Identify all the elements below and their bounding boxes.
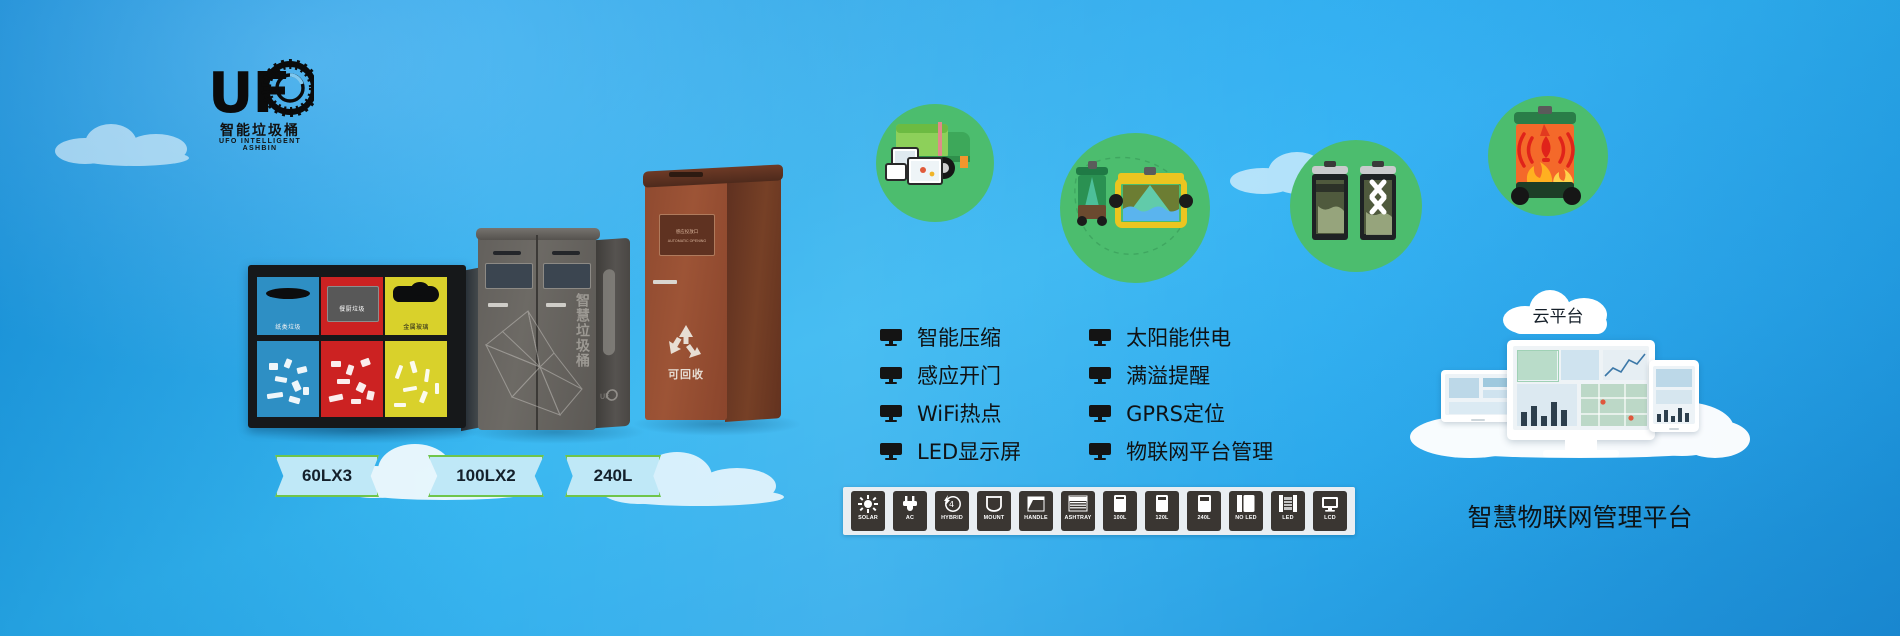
wall-mount-icon [982,493,1006,514]
litter-graphic [263,355,313,409]
platform-dashboard-screen [1513,346,1649,430]
option-label: 100L [1113,515,1126,522]
recycle-symbol-icon [665,322,707,364]
option-label: MOUNT [984,515,1005,522]
feature-item: WiFi热点 [880,398,1021,428]
option-label: 240L [1197,515,1210,522]
yellow-bin-large [1109,167,1193,225]
monitor-base [1543,450,1619,457]
option-120l[interactable]: 120L [1145,491,1179,531]
option-100l[interactable]: 100L [1103,491,1137,531]
handle-icon [1024,493,1048,514]
feature-list: 智能压缩 感应开门 WiFi热点 LED显示屏 太阳能供电 满溢提醒 [880,322,1273,466]
brand-cn-tagline: 智能垃圾桶 [206,120,314,140]
ribbon-label: 60LX3 [302,466,352,486]
feature-circle-compaction [1290,140,1422,272]
triple-bin-cell-top-red: 餐厨垃圾 [321,277,383,335]
monitor-bullet-icon [1089,405,1111,422]
triple-bin-cell-top-blue: 纸类垃圾 [257,277,319,335]
option-no-led[interactable]: NO LED [1229,491,1263,531]
option-lcd[interactable]: LCD [1313,491,1347,531]
option-label: HANDLE [1024,515,1048,522]
monitor-bullet-icon [1089,367,1111,384]
cloud-platform-badge-label: 云平台 [1503,302,1613,327]
platform-monitor [1507,340,1655,440]
feature-circle-fleet-routing [876,104,994,222]
litter-graphic [327,355,377,409]
brand-mark-small-icon: UF [600,389,618,406]
option-ashtray[interactable]: ASHTRAY [1061,491,1095,531]
bin-240l-icon [1192,493,1216,514]
hybrid-power-icon: 4 [940,493,964,514]
feature-label: 物联网平台管理 [1126,436,1273,466]
triple-bin-cell-top-yellow: 金属玻璃 [385,277,447,335]
lcd-screen-icon [1318,493,1342,514]
led-panel-icon [1276,493,1300,514]
fire-alarm-icon [1488,96,1608,216]
platform-tablet-left [1441,370,1515,422]
brown-screen-line1: 感应投放口 [660,228,714,235]
ribbon-label: 240L [594,466,633,486]
double-bin-vertical-text: 智慧垃圾桶 [574,293,590,368]
feature-item: GPRS定位 [1089,398,1273,428]
plug-icon [898,493,922,514]
litter-graphic [391,355,441,409]
double-bin-face: 智慧垃圾桶 [478,235,596,430]
feature-item: 智能压缩 [880,322,1021,352]
option-label: NO LED [1235,515,1257,522]
feature-label: 智能压缩 [917,322,1001,352]
capacity-ribbon-100lx2: 100LX2 [428,455,544,497]
option-label: LED [1282,515,1293,522]
sensor-dots-right-icon [552,251,580,255]
svg-text:4: 4 [949,500,954,509]
drop-slot-cloud-icon-b [411,282,429,296]
brand-logo: UF 智能垃圾桶 UFO INTELLIGENT ASHBIN [206,58,314,150]
feature-item: 物联网平台管理 [1089,436,1273,466]
triple-bin-cell-bottom-red [321,341,383,417]
option-label: AC [906,515,914,522]
feature-column-left: 智能压缩 感应开门 WiFi热点 LED显示屏 [880,322,1021,466]
option-handle[interactable]: HANDLE [1019,491,1053,531]
platform-phone-right [1649,360,1699,432]
sensor-dots-left-icon [493,251,521,255]
capacity-ribbon-60lx3: 60LX3 [275,455,379,497]
drop-window-left [485,263,533,289]
green-bin-small [1076,161,1108,226]
bar-chart-thumb [1519,398,1575,426]
capacity-ribbon-240l: 240L [565,455,661,497]
double-bin-side: UF [594,238,630,429]
brown-bin-handle-icon [653,280,677,284]
feature-label: 太阳能供电 [1126,322,1231,352]
feature-label: 感应开门 [917,360,1001,390]
feature-label: WiFi热点 [917,398,1002,428]
option-led[interactable]: LED [1271,491,1305,531]
monitor-bullet-icon [880,329,902,346]
option-solar[interactable]: SOLAR [851,491,885,531]
svg-text:UF: UF [600,392,609,401]
feature-circle-fill-level [1060,133,1210,283]
platform-caption: 智慧物联网管理平台 [1430,498,1730,534]
option-label: ASHTRAY [1065,515,1092,522]
cloud-platform-scene: 云平台 [1435,300,1725,490]
option-hybrid[interactable]: 4 HYBRID [935,491,969,531]
feature-item: 满溢提醒 [1089,360,1273,390]
monitor-bullet-icon [880,405,902,422]
feature-label: LED显示屏 [917,436,1021,466]
monitor-bullet-icon [1089,443,1111,460]
triple-bin-label: 纸类垃圾 [257,322,319,331]
monitor-bullet-icon [880,443,902,460]
brown-bin-screen: 感应投放口 AUTOMATIC OPENING [659,214,715,256]
monitor-bullet-icon [880,367,902,384]
compaction-compare-icon [1290,140,1422,272]
line-chart-thumb [1603,350,1647,380]
drop-slot-oval-icon [266,288,310,299]
option-label: 120L [1155,515,1168,522]
double-smart-bin: UF [478,235,628,430]
feature-label: 满溢提醒 [1126,360,1210,390]
banner-canvas: UF 智能垃圾桶 UFO INTELLIGENT ASHBIN 纸类垃圾 餐厨垃… [0,0,1900,636]
brown-screen-line2: AUTOMATIC OPENING [660,238,714,245]
option-label: HYBRID [941,515,963,522]
phone-bar-thumb [1656,406,1692,422]
feature-item: 太阳能供电 [1089,322,1273,352]
triple-bin-label: 餐厨垃圾 [321,304,383,313]
brand-en-tagline: UFO INTELLIGENT ASHBIN [206,138,314,152]
triple-bin-cell-bottom-yellow [385,341,447,417]
ashtray-icon [1066,493,1090,514]
bin-100l-icon [1108,493,1132,514]
bin-120l-icon [1150,493,1174,514]
feature-circle-fire-alarm [1488,96,1608,216]
monitor-bullet-icon [1089,329,1111,346]
option-ac[interactable]: AC [893,491,927,531]
triple-recycling-bin: 纸类垃圾 餐厨垃圾 金属玻璃 [248,265,466,428]
monitor-stand [1565,440,1597,450]
no-led-panel-icon [1234,493,1258,514]
triple-bin-cell-bottom-blue [257,341,319,417]
cloud-platform-badge: 云平台 [1503,288,1613,336]
brown-recycle-bin: 感应投放口 AUTOMATIC OPENING 可回收 [645,168,781,420]
feature-column-right: 太阳能供电 满溢提醒 GPRS定位 物联网平台管理 [1089,322,1273,466]
sun-icon [856,493,880,514]
brown-bin-face: 感应投放口 AUTOMATIC OPENING 可回收 [645,176,727,420]
option-icon-strip: SOLAR AC 4 HYBRID MOU [843,487,1355,535]
option-mount[interactable]: MOUNT [977,491,1011,531]
option-label: SOLAR [858,515,878,522]
double-bin-lid [476,228,600,240]
drop-window-right [543,263,591,289]
option-label: LCD [1324,515,1336,522]
feature-item: LED显示屏 [880,436,1021,466]
brown-bin-side [725,176,781,422]
ribbon-label: 100LX2 [456,466,516,486]
cloud-decor-left [55,120,205,166]
brown-bin-recycle-label: 可回收 [645,366,727,382]
feature-item: 感应开门 [880,360,1021,390]
ufo-wordmark-icon: UF [206,58,314,120]
option-240l[interactable]: 240L [1187,491,1221,531]
brown-bin-sensor-dots-icon [669,172,703,177]
fill-level-sensor-icon [1060,133,1210,283]
fleet-routing-icon [876,104,994,222]
map-thumb [1581,384,1647,426]
triple-bin-label: 金属玻璃 [385,322,447,331]
feature-label: GPRS定位 [1126,398,1225,428]
